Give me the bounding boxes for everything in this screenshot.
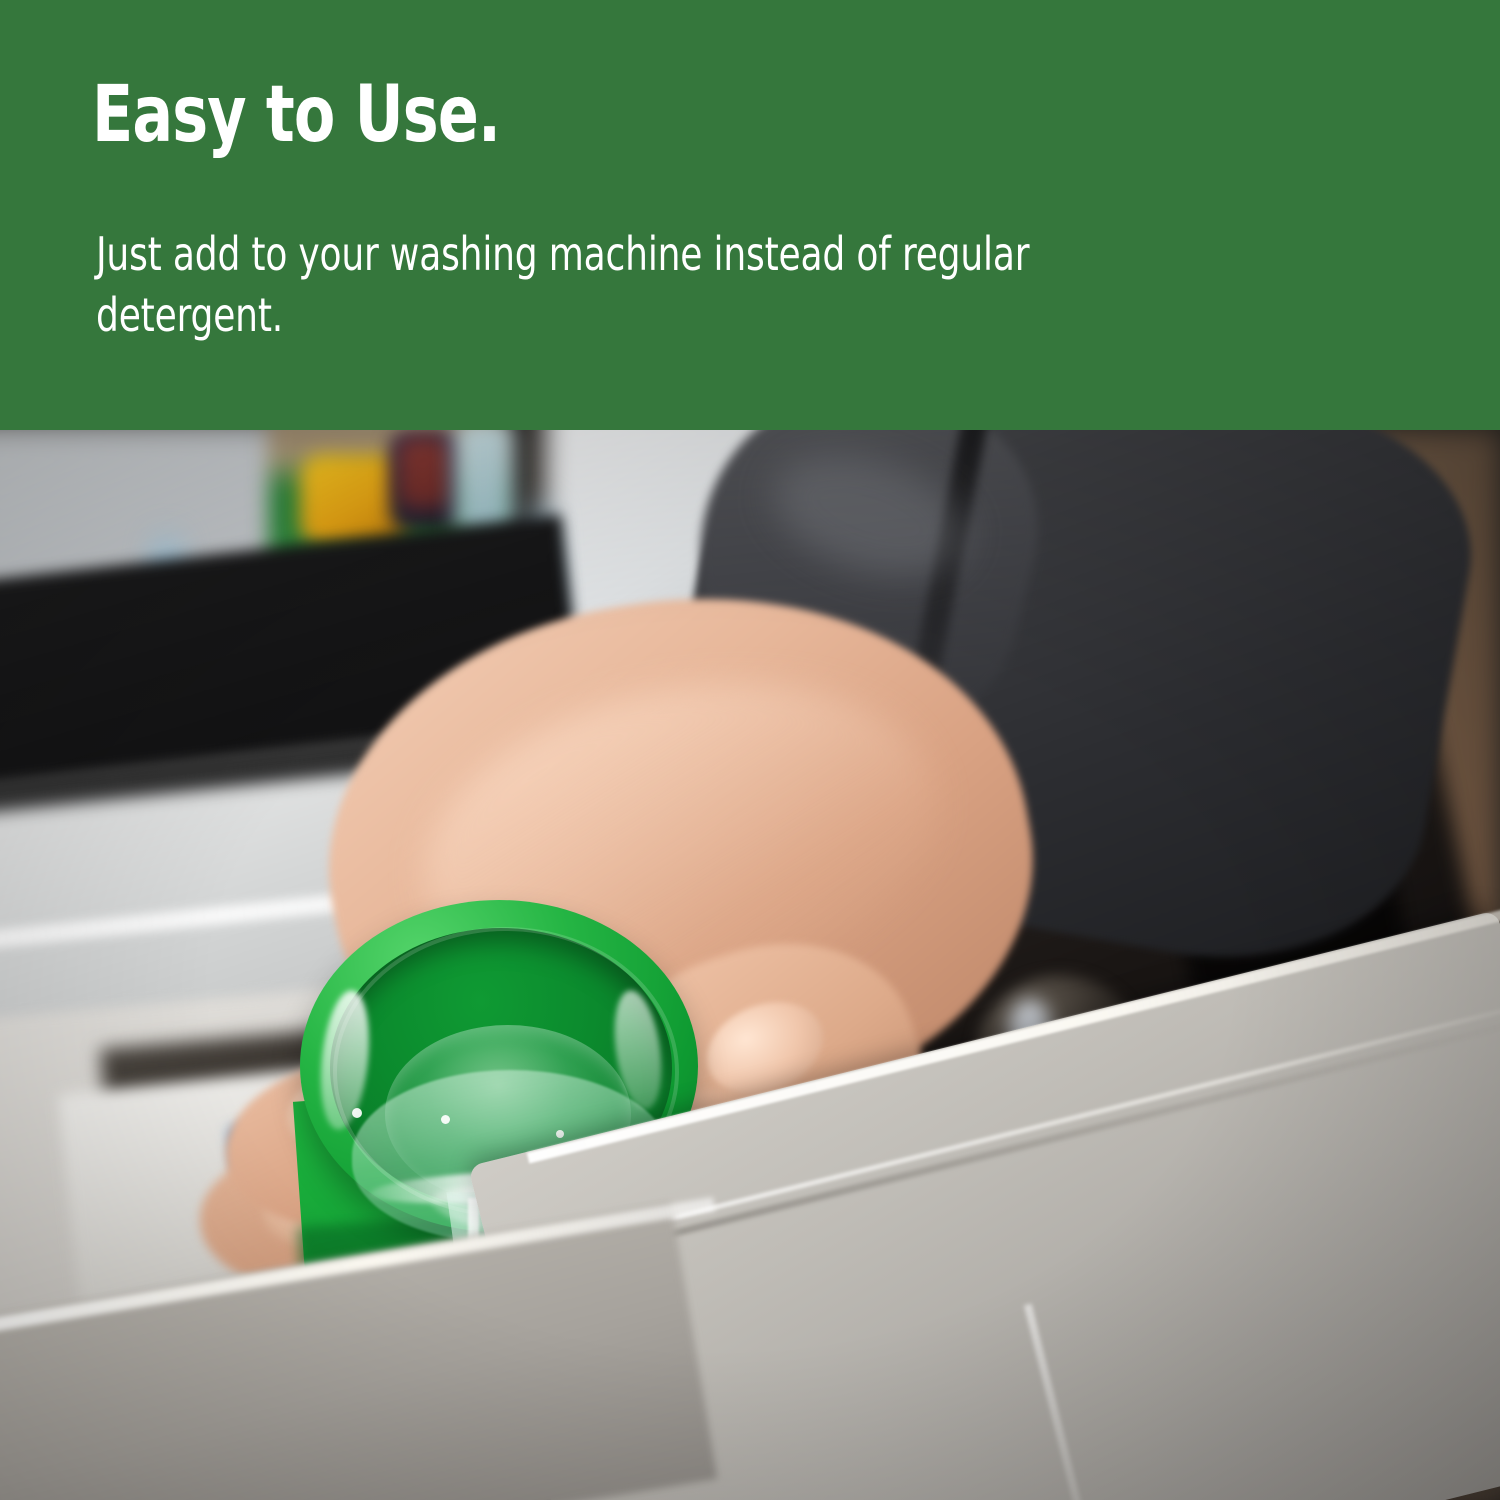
- liquid-bubble: [352, 1108, 362, 1118]
- page-title: Easy to Use.: [92, 76, 500, 154]
- background-jar-red-item: [398, 438, 450, 508]
- product-feature-card: Easy to Use. Just add to your washing ma…: [0, 0, 1500, 1500]
- liquid-bubble: [441, 1115, 450, 1124]
- header-banner: Easy to Use. Just add to your washing ma…: [0, 0, 1500, 430]
- subtitle-text: Just add to your washing machine instead…: [96, 224, 1192, 346]
- liquid-bubble: [556, 1130, 564, 1138]
- product-usage-photo: BOSCH: [0, 430, 1500, 1500]
